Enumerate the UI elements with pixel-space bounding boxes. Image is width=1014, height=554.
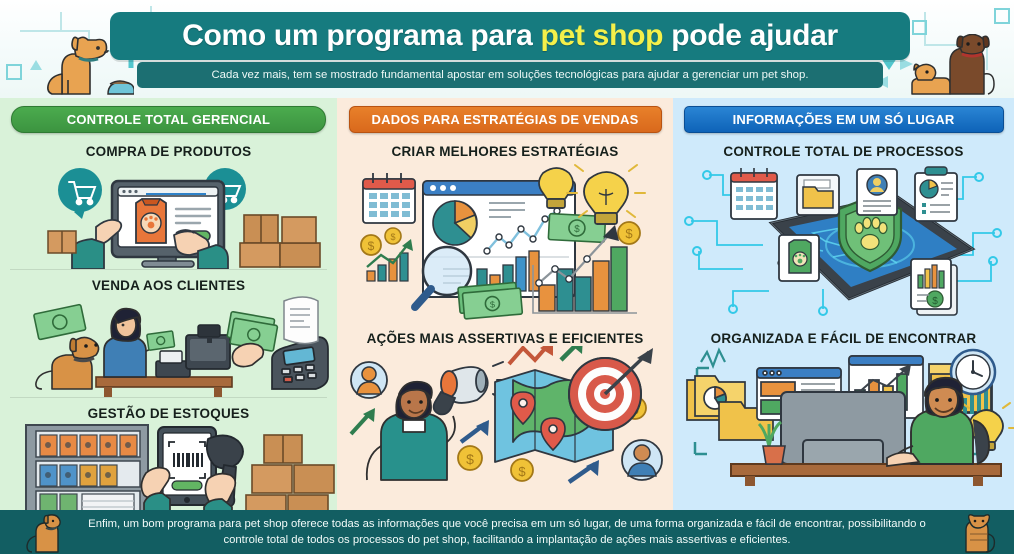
section-title-compra-de-produtos: COMPRA DE PRODUTOS bbox=[0, 144, 337, 159]
title-part-1: Como um programa para bbox=[182, 19, 540, 52]
svg-text:$: $ bbox=[390, 232, 395, 242]
dog-icon bbox=[22, 514, 68, 554]
art-criar-melhores-estrategias: $ $ bbox=[337, 159, 673, 325]
column-2-badge: DADOS PARA ESTRATÉGIAS DE VENDAS bbox=[349, 106, 662, 133]
title-part-2: pode ajudar bbox=[663, 19, 838, 52]
art-venda-aos-clientes bbox=[0, 293, 337, 397]
art-organizada-e-facil-de-encontrar bbox=[673, 346, 1014, 486]
divider-1 bbox=[10, 269, 327, 270]
title-highlight: pet shop bbox=[541, 19, 664, 52]
column-3-badge: INFORMAÇÕES EM UM SÓ LUGAR bbox=[684, 106, 1004, 133]
art-acoes-mais-assertivas: $ $ $ bbox=[337, 346, 673, 486]
svg-text:$: $ bbox=[574, 224, 581, 235]
svg-text:$: $ bbox=[466, 451, 474, 467]
header: Como um programa para pet shop pode ajud… bbox=[0, 0, 1014, 98]
svg-text:$: $ bbox=[518, 464, 526, 479]
footer: Enfim, um bom programa para pet shop ofe… bbox=[0, 510, 1014, 554]
divider-2 bbox=[10, 397, 327, 398]
section-title-acoes-mais-assertivas: AÇÕES MAIS ASSERTIVAS E EFICIENTES bbox=[337, 331, 673, 346]
cat-icon bbox=[952, 514, 996, 554]
footer-text: Enfim, um bom programa para pet shop ofe… bbox=[87, 516, 927, 549]
section-title-criar-melhores-estrategias: CRIAR MELHORES ESTRATÉGIAS bbox=[337, 144, 673, 159]
page-subtitle: Cada vez mais, tem se mostrado fundament… bbox=[211, 69, 808, 81]
section-title-controle-total-de-processos: CONTROLE TOTAL DE PROCESSOS bbox=[673, 144, 1014, 159]
column-informacoes-em-um-so-lugar: INFORMAÇÕES EM UM SÓ LUGAR CONTROLE TOTA… bbox=[673, 98, 1014, 510]
svg-text:$: $ bbox=[490, 299, 496, 309]
infographic-page: Como um programa para pet shop pode ajud… bbox=[0, 0, 1014, 554]
column-1-badge: CONTROLE TOTAL GERENCIAL bbox=[11, 106, 326, 133]
column-controle-total-gerencial: CONTROLE TOTAL GERENCIAL COMPRA DE PRODU… bbox=[0, 98, 337, 510]
svg-text:$: $ bbox=[932, 296, 938, 307]
svg-text:$: $ bbox=[368, 239, 375, 253]
column-dados-para-estrategias-de-vendas: DADOS PARA ESTRATÉGIAS DE VENDAS CRIAR M… bbox=[337, 98, 673, 510]
section-title-gestao-de-estoques: GESTÃO DE ESTOQUES bbox=[0, 406, 337, 421]
subtitle-bar: Cada vez mais, tem se mostrado fundament… bbox=[137, 62, 883, 88]
two-dogs-icon bbox=[910, 34, 1006, 98]
art-gestao-de-estoques bbox=[0, 421, 337, 510]
art-controle-total-de-processos: $ bbox=[673, 159, 1014, 327]
page-title-badge: Como um programa para pet shop pode ajud… bbox=[110, 12, 910, 60]
art-compra-de-produtos bbox=[0, 159, 337, 269]
svg-text:$: $ bbox=[625, 226, 633, 241]
columns-container: CONTROLE TOTAL GERENCIAL COMPRA DE PRODU… bbox=[0, 98, 1014, 510]
section-title-organizada-e-facil: ORGANIZADA E FÁCIL DE ENCONTRAR bbox=[673, 331, 1014, 346]
section-title-venda-aos-clientes: VENDA AOS CLIENTES bbox=[0, 278, 337, 293]
page-title: Como um programa para pet shop pode ajud… bbox=[182, 21, 838, 51]
